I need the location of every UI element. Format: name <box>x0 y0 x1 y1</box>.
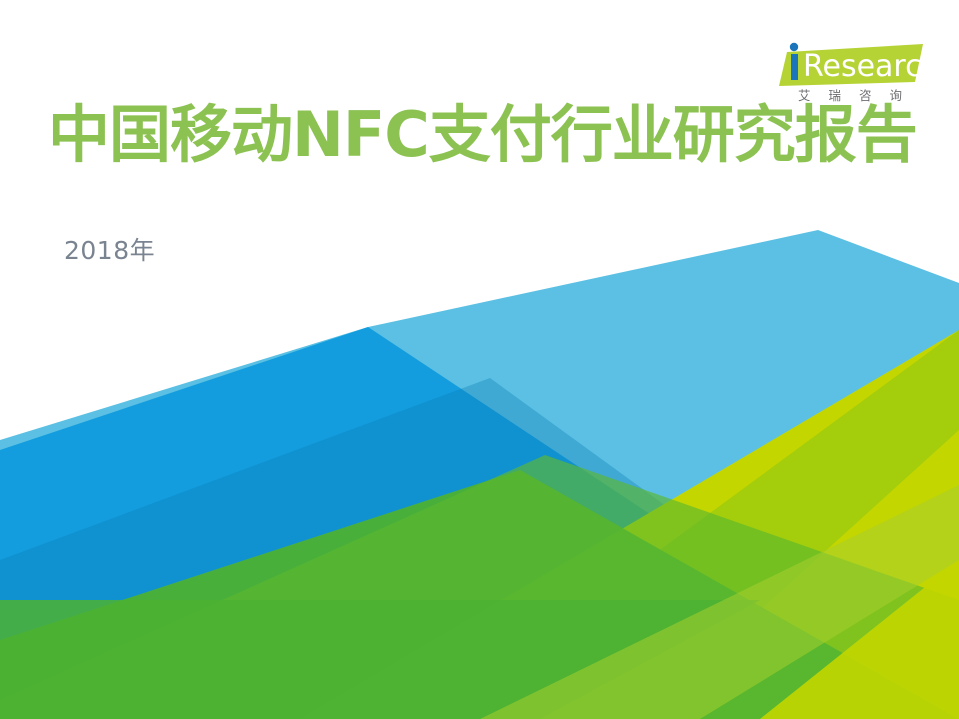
iresearch-logo: Research 艾 瑞 咨 询 <box>775 38 925 114</box>
logo-i-dot-icon <box>790 43 798 51</box>
logo-i-stem-icon <box>791 54 798 80</box>
logo-brand-text: Research <box>803 49 925 84</box>
logo-chinese-name: 艾 瑞 咨 询 <box>775 85 925 104</box>
report-year: 2018年 <box>64 231 155 267</box>
presentation-slide: 中国移动NFC支付行业研究报告 2018年 Research 艾 瑞 咨 询 <box>0 0 959 719</box>
logo-mark-icon: Research <box>775 38 925 88</box>
